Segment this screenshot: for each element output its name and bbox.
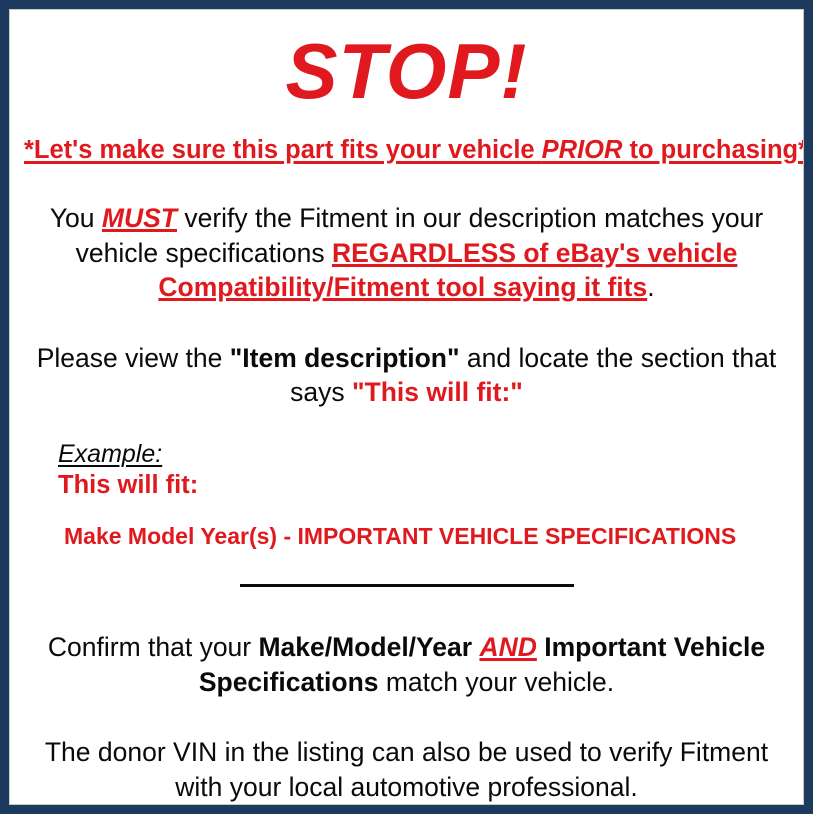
subtitle-prior-emphasis: PRIOR — [542, 136, 623, 164]
subtitle-text-after: to purchasing* — [622, 136, 804, 164]
notice-content-area: STOP! *Let's make sure this part fits yo… — [9, 9, 804, 805]
stop-heading: STOP! — [24, 32, 789, 110]
paragraph-view-description: Please view the "Item description" and l… — [24, 341, 789, 410]
make-model-year-emphasis: Make/Model/Year — [258, 632, 472, 662]
must-seg1: You — [50, 203, 102, 233]
and-emphasis: AND — [479, 632, 536, 662]
this-will-fit-emphasis: "This will fit:" — [352, 377, 523, 407]
fitment-notice-card: STOP! *Let's make sure this part fits yo… — [0, 0, 813, 814]
example-this-will-fit-line: This will fit: — [58, 470, 789, 501]
subtitle-text-before: *Let's make sure this part fits your veh… — [24, 136, 542, 164]
subtitle-banner: *Let's make sure this part fits your veh… — [24, 136, 789, 165]
paragraph-donor-vin: The donor VIN in the listing can also be… — [24, 735, 789, 804]
item-description-emphasis: "Item description" — [230, 343, 460, 373]
view-seg1: Please view the — [37, 343, 230, 373]
confirm-seg1: Confirm that your — [48, 632, 259, 662]
confirm-seg4: match your vehicle. — [379, 667, 615, 697]
divider-container — [24, 576, 789, 594]
example-block: Example: This will fit: Make Model Year(… — [24, 440, 789, 551]
horizontal-rule — [240, 584, 574, 587]
paragraph-confirm-match: Confirm that your Make/Model/Year AND Im… — [24, 630, 789, 699]
must-seg3: . — [647, 272, 654, 302]
example-label: Example: — [58, 440, 162, 469]
example-specification-line: Make Model Year(s) - IMPORTANT VEHICLE S… — [58, 523, 789, 551]
must-emphasis: MUST — [102, 203, 177, 233]
paragraph-must-verify: You MUST verify the Fitment in our descr… — [24, 201, 789, 304]
